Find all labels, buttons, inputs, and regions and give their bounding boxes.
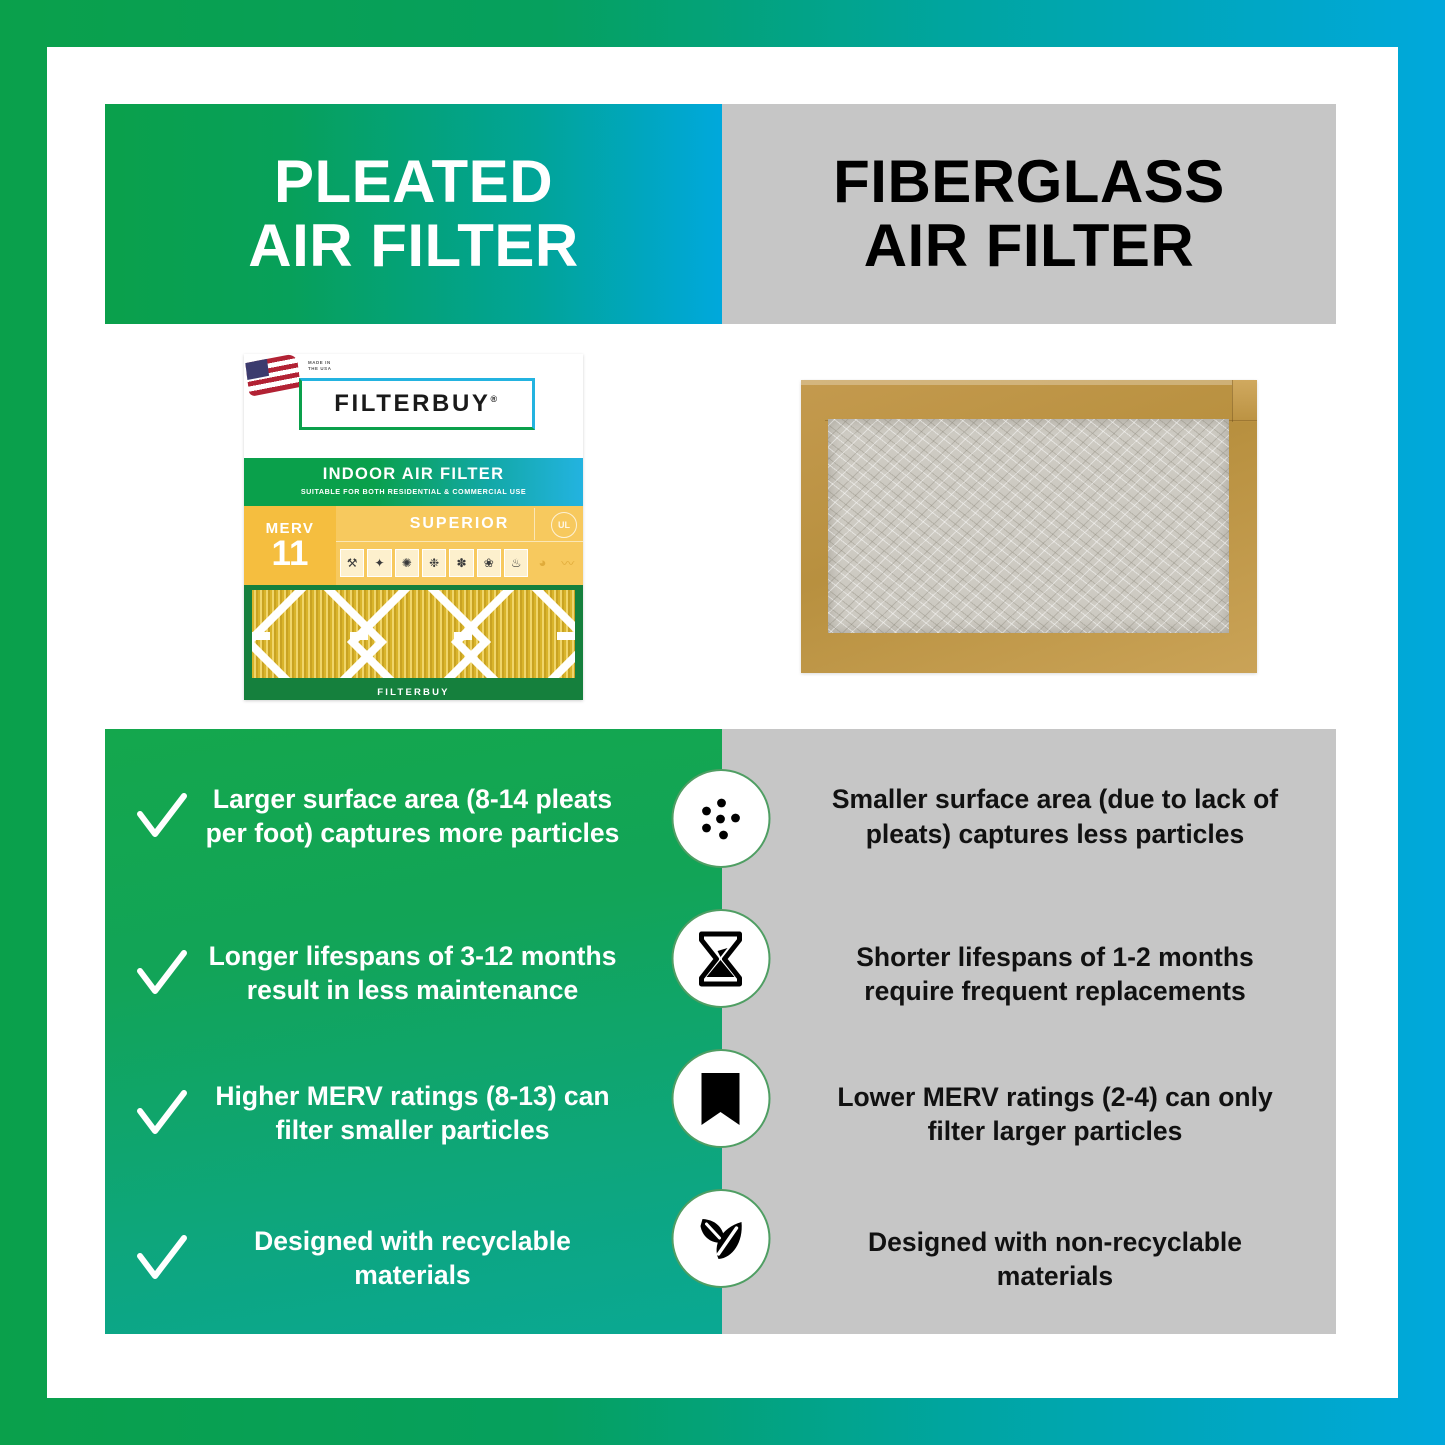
check-icon [135,792,189,842]
list-item: Smaller surface area (due to lack of ple… [722,729,1336,904]
bacteria-icon: ◕ [531,550,553,576]
list-item-label: Designed with recyclable materials [195,1225,630,1293]
tier-label: SUPERIOR [336,506,583,542]
made-in-line1: MADE IN [308,360,331,367]
fiberglass-list: Smaller surface area (due to lack of ple… [722,729,1336,1334]
check-icon [135,1234,189,1284]
list-item-label: Higher MERV ratings (8-13) can filter sm… [195,1080,630,1148]
pleated-benefits-column: Larger surface area (8-14 pleats per foo… [105,729,722,1334]
merv-value: 11 [244,537,336,570]
list-item: Longer lifespans of 3-12 months result i… [105,904,722,1044]
pleat-texture [252,590,575,678]
list-item: Shorter lifespans of 1-2 months require … [722,904,1336,1044]
fiberglass-drawbacks-column: Smaller surface area (due to lack of ple… [722,729,1336,1334]
list-item-label: Longer lifespans of 3-12 months result i… [195,940,630,1008]
merv-label: MERV [244,506,336,537]
merv-badge: MERV 11 [244,506,336,585]
header-fiberglass-line1: FIBERGLASS [833,150,1225,214]
merv-panel: MERV 11 SUPERIOR UL ⚒ ✦ ✺ ❉ ✽ [244,506,583,585]
odor-icon: 〰 [557,550,579,576]
header-pleated-line1: PLEATED [248,150,579,214]
check-icon [135,1089,189,1139]
ul-certification-icon: UL [551,512,577,538]
comparison-section: Larger surface area (8-14 pleats per foo… [105,729,1336,1334]
mold-icon: ❉ [422,549,446,577]
filterbuy-logo-text: FILTERBUY® [334,390,500,418]
list-item: Lower MERV ratings (2-4) can only filter… [722,1044,1336,1184]
list-item-label: Smaller surface area (due to lack of ple… [814,782,1296,851]
pleated-product-cell: MADE IN THE USA FILTERBUY® INDOOR AIR FI… [105,324,722,729]
filterbuy-box-image: MADE IN THE USA FILTERBUY® INDOOR AIR FI… [244,354,583,700]
fiberglass-media [828,419,1229,633]
header-fiberglass-line2: AIR FILTER [833,214,1225,278]
header-pleated-line2: AIR FILTER [248,214,579,278]
fiberglass-product-cell [722,324,1336,729]
box-footer-brand: FILTERBUY [244,687,583,698]
list-item-label: Designed with non-recyclable materials [814,1225,1296,1294]
list-item: Designed with recyclable materials [105,1184,722,1334]
tier-divider [534,508,535,540]
band-subtitle: SUITABLE FOR BOTH RESIDENTIAL & COMMERCI… [244,484,583,496]
header-pleated: PLEATED AIR FILTER [105,104,722,324]
made-in-line2: THE USA [308,366,331,373]
smoke-icon: ♨ [504,549,528,577]
pet-dander-icon: ❀ [477,549,501,577]
fiberglass-filter-photo [801,380,1257,673]
frame-seam [1232,380,1257,422]
gradient-border: PLEATED AIR FILTER FIBERGLASS AIR FILTER [0,0,1445,1445]
product-image-row: MADE IN THE USA FILTERBUY® INDOOR AIR FI… [105,324,1336,729]
support-web [557,632,575,640]
support-web [252,632,270,640]
list-item-label: Lower MERV ratings (2-4) can only filter… [814,1080,1296,1149]
feature-icon-row: ⚒ ✦ ✺ ❉ ✽ ❀ ♨ ◕ 〰 [340,546,579,580]
bug-icon: ✦ [367,549,391,577]
virus-icon: ✺ [395,549,419,577]
list-item-label: Shorter lifespans of 1-2 months require … [814,940,1296,1009]
made-in-usa-text: MADE IN THE USA [308,360,331,374]
white-sheet: PLEATED AIR FILTER FIBERGLASS AIR FILTER [47,47,1398,1398]
band-title: INDOOR AIR FILTER [244,458,583,484]
support-web [454,632,472,640]
dust-icon: ⚒ [340,549,364,577]
list-item-label: Larger surface area (8-14 pleats per foo… [195,783,630,851]
check-icon [135,949,189,999]
filterbuy-logo: FILTERBUY® [299,378,535,430]
list-item: Larger surface area (8-14 pleats per foo… [105,729,722,904]
indoor-air-filter-band: INDOOR AIR FILTER SUITABLE FOR BOTH RESI… [244,458,583,506]
list-item: Higher MERV ratings (8-13) can filter sm… [105,1044,722,1184]
list-item: Designed with non-recyclable materials [722,1184,1336,1334]
infographic: PLEATED AIR FILTER FIBERGLASS AIR FILTER [105,104,1336,1334]
pleated-list: Larger surface area (8-14 pleats per foo… [105,729,722,1334]
header-fiberglass: FIBERGLASS AIR FILTER [722,104,1336,324]
pleated-media-image: FILTERBUY [244,585,583,700]
header-row: PLEATED AIR FILTER FIBERGLASS AIR FILTER [105,104,1336,324]
support-web [350,632,368,640]
pollen-icon: ✽ [449,549,473,577]
